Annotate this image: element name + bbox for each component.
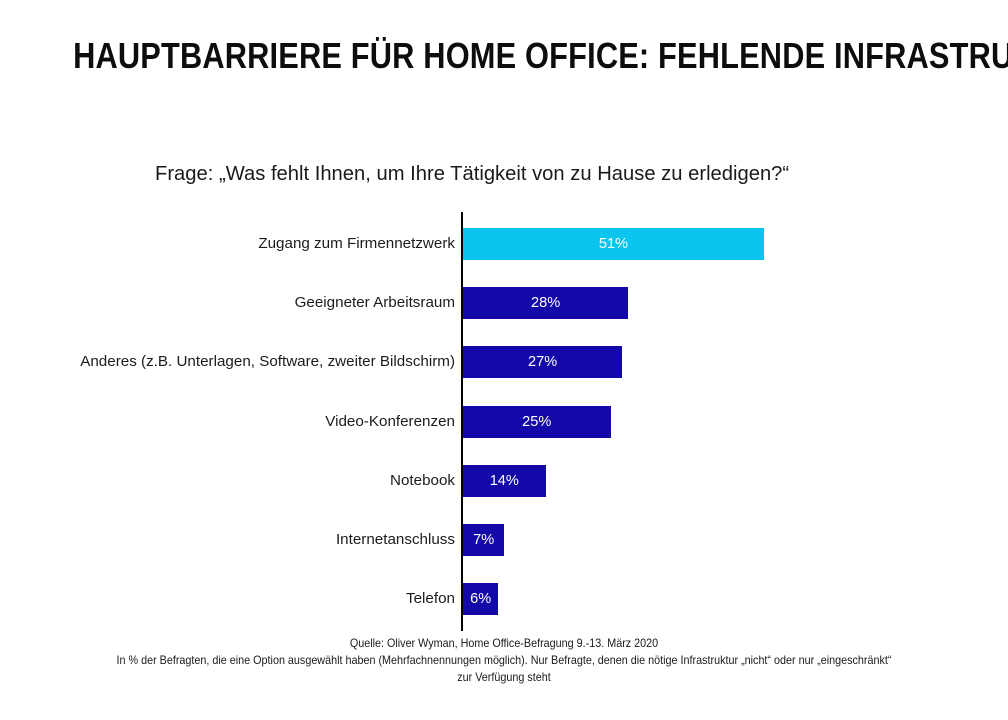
bar-row: Video-Konferenzen25% <box>0 406 1008 438</box>
bar[interactable]: 51% <box>463 228 764 260</box>
bar-category-label: Telefon <box>35 583 455 615</box>
bar-value-label: 6% <box>463 583 498 615</box>
bar-row: Geeigneter Arbeitsraum28% <box>0 287 1008 319</box>
bar-row: Telefon6% <box>0 583 1008 615</box>
bar-wrapper: 51% <box>463 228 764 260</box>
bar-value-label: 51% <box>463 228 764 260</box>
bar-value-label: 28% <box>463 287 628 319</box>
bar-value-label: 7% <box>463 524 504 556</box>
bar-category-label: Internetanschluss <box>35 524 455 556</box>
bar-row: Zugang zum Firmennetzwerk51% <box>0 228 1008 260</box>
bar-row: Anderes (z.B. Unterlagen, Software, zwei… <box>0 346 1008 378</box>
bar-row: Notebook14% <box>0 465 1008 497</box>
bar-category-label: Video-Konferenzen <box>35 406 455 438</box>
bar-category-label: Notebook <box>35 465 455 497</box>
bar-category-label: Anderes (z.B. Unterlagen, Software, zwei… <box>35 346 455 378</box>
bar[interactable]: 6% <box>463 583 498 615</box>
bar-wrapper: 28% <box>463 287 628 319</box>
bar-row: Internetanschluss7% <box>0 524 1008 556</box>
bar-value-label: 27% <box>463 346 622 378</box>
bar[interactable]: 28% <box>463 287 628 319</box>
page-title: HAUPTBARRIERE FÜR HOME OFFICE: FEHLENDE … <box>73 34 935 78</box>
footnotes: Quelle: Oliver Wyman, Home Office-Befrag… <box>0 636 1008 686</box>
bar-value-label: 14% <box>463 465 546 497</box>
bar-chart: Zugang zum Firmennetzwerk51%Geeigneter A… <box>0 206 1008 630</box>
bar-rows-container: Zugang zum Firmennetzwerk51%Geeigneter A… <box>0 206 1008 630</box>
bar-value-label: 25% <box>463 406 611 438</box>
bar-wrapper: 14% <box>463 465 546 497</box>
bar-wrapper: 27% <box>463 346 622 378</box>
footnote-methodology-line2: zur Verfügung steht <box>35 669 972 686</box>
footnote-source: Quelle: Oliver Wyman, Home Office-Befrag… <box>35 636 972 652</box>
bar-wrapper: 7% <box>463 524 504 556</box>
bar-wrapper: 6% <box>463 583 498 615</box>
bar-wrapper: 25% <box>463 406 611 438</box>
bar-category-label: Zugang zum Firmennetzwerk <box>35 228 455 260</box>
footnote-methodology-line1: In % der Befragten, die eine Option ausg… <box>35 652 972 669</box>
bar-category-label: Geeigneter Arbeitsraum <box>35 287 455 319</box>
bar[interactable]: 27% <box>463 346 622 378</box>
bar[interactable]: 14% <box>463 465 546 497</box>
bar[interactable]: 25% <box>463 406 611 438</box>
chart-subtitle-question: Frage: „Was fehlt Ihnen, um Ihre Tätigke… <box>155 160 789 188</box>
bar[interactable]: 7% <box>463 524 504 556</box>
